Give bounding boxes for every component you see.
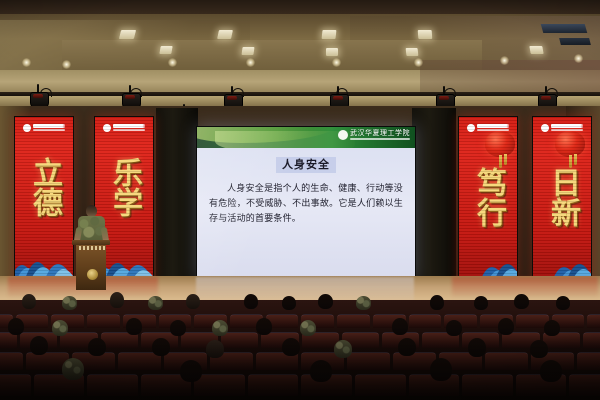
seat — [221, 332, 258, 348]
audience-head — [244, 294, 258, 309]
slide-logo-text: 武汉华夏理工学院 — [350, 130, 410, 137]
university-crest-icon: 武汉华夏理工学院 — [338, 130, 410, 140]
projection-screen: 武汉华夏理工学院 人身安全 人身安全是指个人的生命、健康、行动等没有危险，不受威… — [196, 126, 416, 280]
recessed-downlight-icon — [241, 47, 254, 55]
red-lantern-icon — [555, 131, 585, 157]
banner-glyph: 笃行 — [473, 167, 503, 227]
seat-row — [0, 374, 600, 396]
lectern-podium — [74, 240, 108, 290]
downlight-glow — [62, 60, 71, 69]
red-lantern-icon — [485, 131, 515, 157]
led-banner-3: 笃行 — [458, 116, 518, 280]
recessed-downlight-icon — [406, 48, 419, 56]
stage-curtain-left — [156, 108, 198, 280]
audience-head — [468, 338, 486, 357]
seat — [462, 374, 513, 396]
downlight-glow — [22, 58, 31, 67]
audience-house — [0, 300, 600, 400]
banner-glyph: 立德 — [29, 157, 59, 217]
audience-head — [430, 295, 444, 310]
audience-head — [180, 360, 202, 382]
recessed-downlight-icon — [159, 46, 172, 54]
audience-head — [212, 320, 228, 336]
lantern-tassel — [504, 154, 507, 165]
audience-head — [8, 318, 24, 335]
slide-title: 人身安全 — [276, 157, 336, 173]
seat — [583, 332, 600, 348]
seat — [87, 314, 120, 328]
audience-head — [398, 338, 416, 356]
podium-name-plate — [79, 246, 107, 250]
led-banner-1: 立德 — [14, 116, 74, 280]
audience-head — [62, 358, 84, 380]
audience-head — [256, 318, 272, 335]
audience-head — [62, 296, 77, 310]
audience-head — [356, 296, 371, 310]
ceiling-vent — [541, 24, 588, 33]
audience-head — [334, 340, 352, 358]
audience-head — [530, 340, 548, 358]
recessed-downlight-icon — [418, 30, 433, 39]
audience-head — [474, 296, 488, 310]
slide-body: 人身安全 人身安全是指个人的生命、健康、行动等没有危险，不受威胁、不出事故。它是… — [197, 148, 415, 279]
audience-head — [282, 296, 296, 310]
downlight-glow — [246, 58, 255, 67]
blue-wave-motif-icon — [15, 237, 73, 279]
header-swoosh — [215, 131, 355, 148]
seat — [194, 374, 245, 396]
seat — [355, 374, 406, 396]
audience-head — [126, 318, 142, 335]
seat — [248, 374, 299, 396]
university-crest-icon — [540, 122, 584, 133]
seat — [347, 352, 390, 370]
speaker-person — [76, 205, 106, 245]
recessed-downlight-icon — [322, 30, 337, 39]
led-banner-4: 日新 — [532, 116, 592, 280]
seat — [337, 314, 370, 328]
audience-head — [392, 318, 408, 335]
slide-header-band: 武汉华夏理工学院 — [197, 127, 415, 148]
audience-head — [310, 360, 332, 382]
audience-head — [88, 338, 106, 356]
seat — [485, 352, 528, 370]
audience-head — [52, 320, 68, 336]
audience-head — [22, 294, 36, 309]
seat — [587, 314, 600, 328]
auditorium-scene: 立德 乐学 — [0, 0, 600, 400]
seat-row — [0, 352, 600, 370]
seat — [577, 352, 600, 370]
university-crest-icon — [22, 122, 66, 133]
audience-head — [318, 294, 333, 309]
downlight-glow — [574, 54, 583, 63]
audience-head — [30, 336, 48, 355]
audience-head — [186, 294, 200, 309]
podium-body — [76, 245, 106, 290]
downlight-glow — [168, 58, 177, 67]
seat — [118, 352, 161, 370]
audience-head — [152, 338, 170, 356]
audience-head — [300, 320, 316, 336]
audience-head — [282, 338, 300, 356]
recessed-downlight-icon — [326, 48, 338, 56]
audience-head — [170, 320, 186, 336]
seat — [0, 374, 31, 396]
recessed-downlight-icon — [119, 30, 136, 39]
blue-wave-motif-icon — [533, 237, 591, 279]
audience-head — [110, 292, 124, 308]
downlight-glow — [332, 58, 341, 67]
audience-head — [498, 318, 514, 335]
downlight-glow — [414, 58, 423, 67]
slide-paragraph: 人身安全是指个人的生命、健康、行动等没有危险，不受威胁、不出事故。它是人们赖以生… — [209, 182, 403, 227]
seat — [0, 352, 23, 370]
ceiling-recess — [62, 40, 482, 74]
university-crest-icon — [87, 269, 98, 280]
banner-glyph: 日新 — [547, 167, 577, 227]
seat — [87, 374, 138, 396]
university-crest-icon — [102, 122, 146, 133]
recessed-downlight-icon — [529, 46, 543, 54]
audience-head — [430, 358, 452, 381]
audience-head — [206, 340, 224, 358]
audience-head — [556, 296, 570, 310]
ceiling-vent — [559, 38, 591, 45]
audience-head — [446, 320, 462, 336]
seat — [569, 374, 600, 396]
blue-wave-motif-icon — [459, 237, 517, 279]
audience-head — [540, 360, 562, 382]
audience-head — [148, 296, 163, 310]
seat — [409, 314, 442, 328]
lantern-tassel — [574, 154, 577, 165]
downlight-glow — [500, 56, 509, 65]
university-crest-icon — [466, 122, 510, 133]
audience-head — [544, 320, 560, 336]
banner-glyph: 乐学 — [109, 157, 139, 217]
recessed-downlight-icon — [217, 30, 233, 39]
stage-curtain-right — [412, 108, 456, 280]
audience-head — [514, 294, 529, 309]
